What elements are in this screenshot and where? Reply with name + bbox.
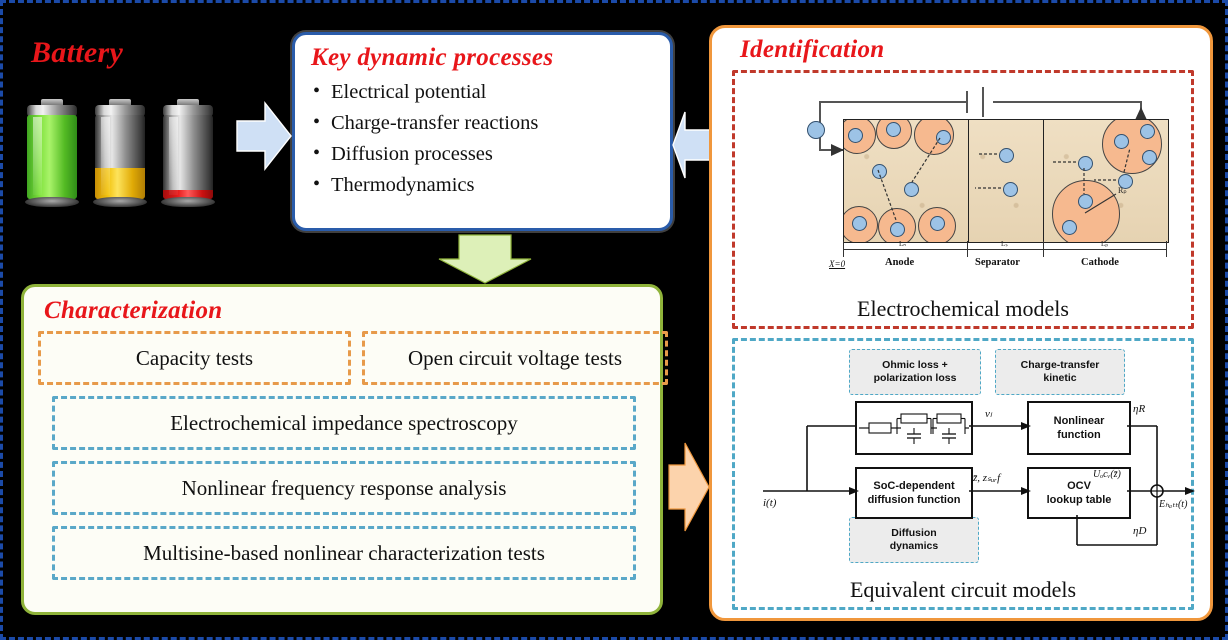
- separator-thickness-label: Lₛ: [1001, 240, 1008, 248]
- characterization-top-row: Capacity tests Open circuit voltage test…: [38, 331, 648, 385]
- ocv-tests-box[interactable]: Open circuit voltage tests: [362, 331, 668, 385]
- anode-region: [843, 119, 971, 243]
- origin-label: X=0: [829, 259, 845, 269]
- ocv-tests-label: Open circuit voltage tests: [408, 346, 622, 371]
- electrochemical-model-box: Rₚ Lₙ Lₛ Lₚ X=0 Anode Separator Cathode …: [732, 70, 1194, 329]
- cathode-radius-label: Rₚ: [1118, 186, 1127, 195]
- battery-title: Battery: [31, 36, 123, 70]
- nfra-box[interactable]: Nonlinear frequency response analysis: [52, 461, 636, 515]
- arrow-identification-to-processes-icon: [671, 106, 713, 184]
- nfra-label: Nonlinear frequency response analysis: [182, 476, 507, 501]
- ecm-block-diagram: Ohmic loss + polarization loss Charge-tr…: [745, 349, 1195, 564]
- battery-icon-group: [3, 87, 233, 207]
- characterization-card: Characterization Capacity tests Open cir…: [21, 284, 663, 615]
- anode-label: Anode: [885, 257, 914, 268]
- terminal-ion-left: [807, 121, 825, 139]
- arrow-battery-to-processes-icon: [235, 95, 293, 177]
- identification-card: Identification: [709, 25, 1213, 621]
- capacitor-plate-right: [982, 87, 984, 117]
- eis-box[interactable]: Electrochemical impedance spectroscopy: [52, 396, 636, 450]
- arrow-processes-to-characterization-icon: [435, 233, 535, 285]
- separator-label: Separator: [975, 257, 1020, 268]
- arrow-characterization-to-identification-icon: [667, 437, 711, 537]
- signal-eta-r: ηR: [1133, 403, 1145, 415]
- separator-region: [968, 119, 1046, 243]
- list-item: Electrical potential: [311, 77, 656, 108]
- multisine-box[interactable]: Multisine-based nonlinear characterizati…: [52, 526, 636, 580]
- key-dynamic-processes-list: Electrical potential Charge-transfer rea…: [311, 77, 656, 201]
- battery-low-icon: [161, 99, 215, 207]
- key-dynamic-processes-card: Key dynamic processes Electrical potenti…: [292, 32, 673, 231]
- signal-z-surf: z̄, zₛᵤᵣf: [973, 471, 1000, 484]
- eis-label: Electrochemical impedance spectroscopy: [170, 411, 518, 436]
- battery-half-icon: [93, 99, 147, 207]
- cathode-thickness-label: Lₚ: [1101, 240, 1108, 248]
- equivalent-circuit-models-caption: Equivalent circuit models: [735, 577, 1191, 603]
- characterization-title: Characterization: [44, 293, 648, 329]
- list-item: Thermodynamics: [311, 170, 656, 201]
- signal-output-voltage: Eₕₐₜₜ(t): [1159, 499, 1187, 510]
- capacitor-plate-left: [966, 91, 968, 113]
- identification-title: Identification: [740, 32, 1200, 68]
- signal-eta-d: ηD: [1133, 525, 1146, 537]
- signal-input-current: i(t): [763, 497, 776, 509]
- capacity-tests-box[interactable]: Capacity tests: [38, 331, 351, 385]
- ecm-wires: [745, 349, 1195, 564]
- cathode-region: Rₚ: [1043, 119, 1169, 243]
- multisine-label: Multisine-based nonlinear characterizati…: [143, 541, 545, 566]
- cathode-label: Cathode: [1081, 257, 1119, 268]
- capacity-tests-label: Capacity tests: [136, 346, 253, 371]
- battery-full-icon: [25, 99, 79, 207]
- key-dynamic-processes-title: Key dynamic processes: [311, 41, 656, 75]
- signal-ocv-out: Uₒcᵥ(z̄): [1093, 469, 1121, 480]
- graphical-abstract-figure: Battery Key dynamic processes Electrical…: [0, 0, 1228, 640]
- electrochemical-cell-figure: Rₚ Lₙ Lₛ Lₚ X=0 Anode Separator Cathode: [787, 83, 1167, 273]
- list-item: Charge-transfer reactions: [311, 108, 656, 139]
- anode-thickness-label: Lₙ: [899, 240, 906, 248]
- list-item: Diffusion processes: [311, 139, 656, 170]
- signal-v-l: vₗ: [985, 407, 992, 420]
- electrochemical-models-caption: Electrochemical models: [735, 296, 1191, 322]
- equivalent-circuit-model-box: Ohmic loss + polarization loss Charge-tr…: [732, 338, 1194, 610]
